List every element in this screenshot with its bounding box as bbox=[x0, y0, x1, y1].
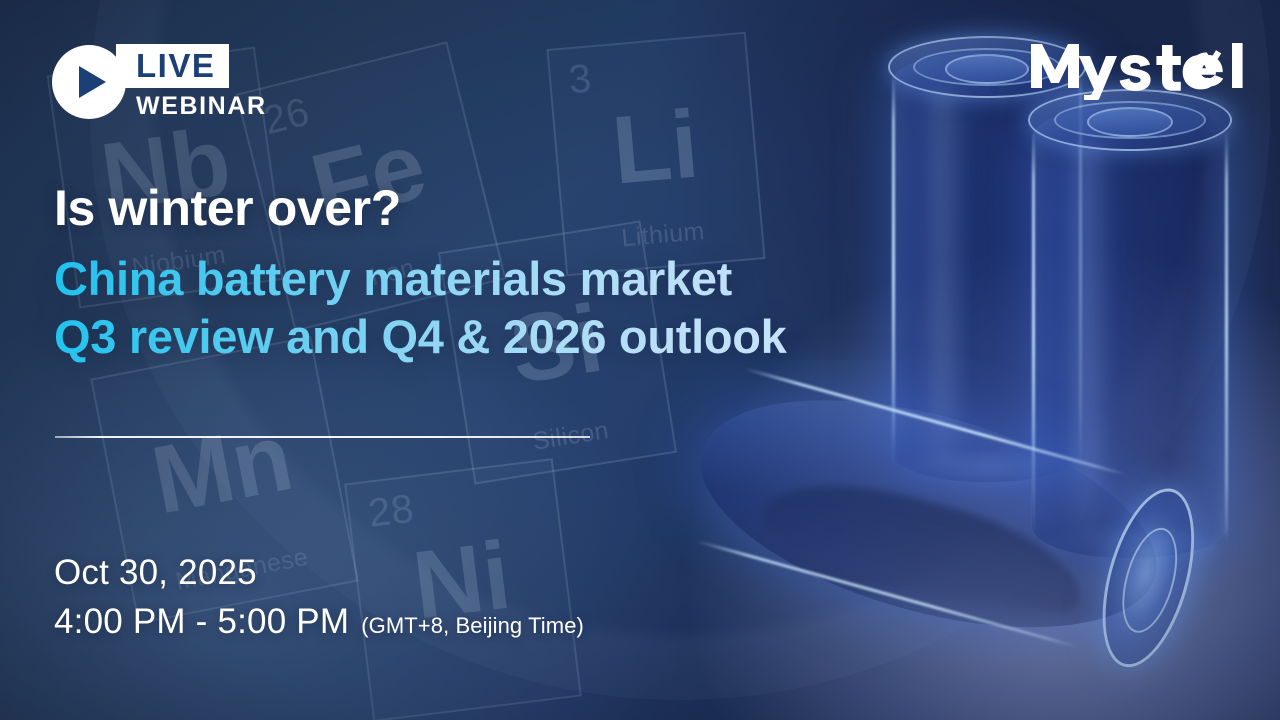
live-webinar-badge: LIVE WEBINAR bbox=[52, 44, 267, 119]
webinar-label: WEBINAR bbox=[116, 88, 267, 119]
event-time: 4:00 PM - 5:00 PM bbox=[54, 602, 349, 642]
event-date: Oct 30, 2025 bbox=[54, 552, 584, 595]
subtitle-line-1: China battery materials market bbox=[54, 252, 732, 305]
schedule-block: Oct 30, 2025 4:00 PM - 5:00 PM (GMT+8, B… bbox=[54, 552, 584, 642]
live-label: LIVE bbox=[116, 44, 229, 88]
live-webinar-text: LIVE WEBINAR bbox=[116, 44, 267, 119]
play-icon bbox=[52, 45, 126, 119]
event-timezone: (GMT+8, Beijing Time) bbox=[361, 613, 584, 639]
event-time-row: 4:00 PM - 5:00 PM (GMT+8, Beijing Time) bbox=[54, 602, 584, 642]
page-subtitle: China battery materials market Q3 review… bbox=[54, 250, 787, 367]
page-title: Is winter over? bbox=[54, 182, 401, 235]
webinar-banner: Nb Niobium 26 Fe Iron 3 Li Lithium Si Si… bbox=[0, 0, 1280, 720]
subtitle-line-2: Q3 review and Q4 & 2026 outlook bbox=[54, 308, 787, 366]
divider-rule bbox=[55, 436, 590, 438]
mysteel-logo bbox=[1029, 38, 1244, 100]
play-triangle bbox=[79, 66, 106, 98]
